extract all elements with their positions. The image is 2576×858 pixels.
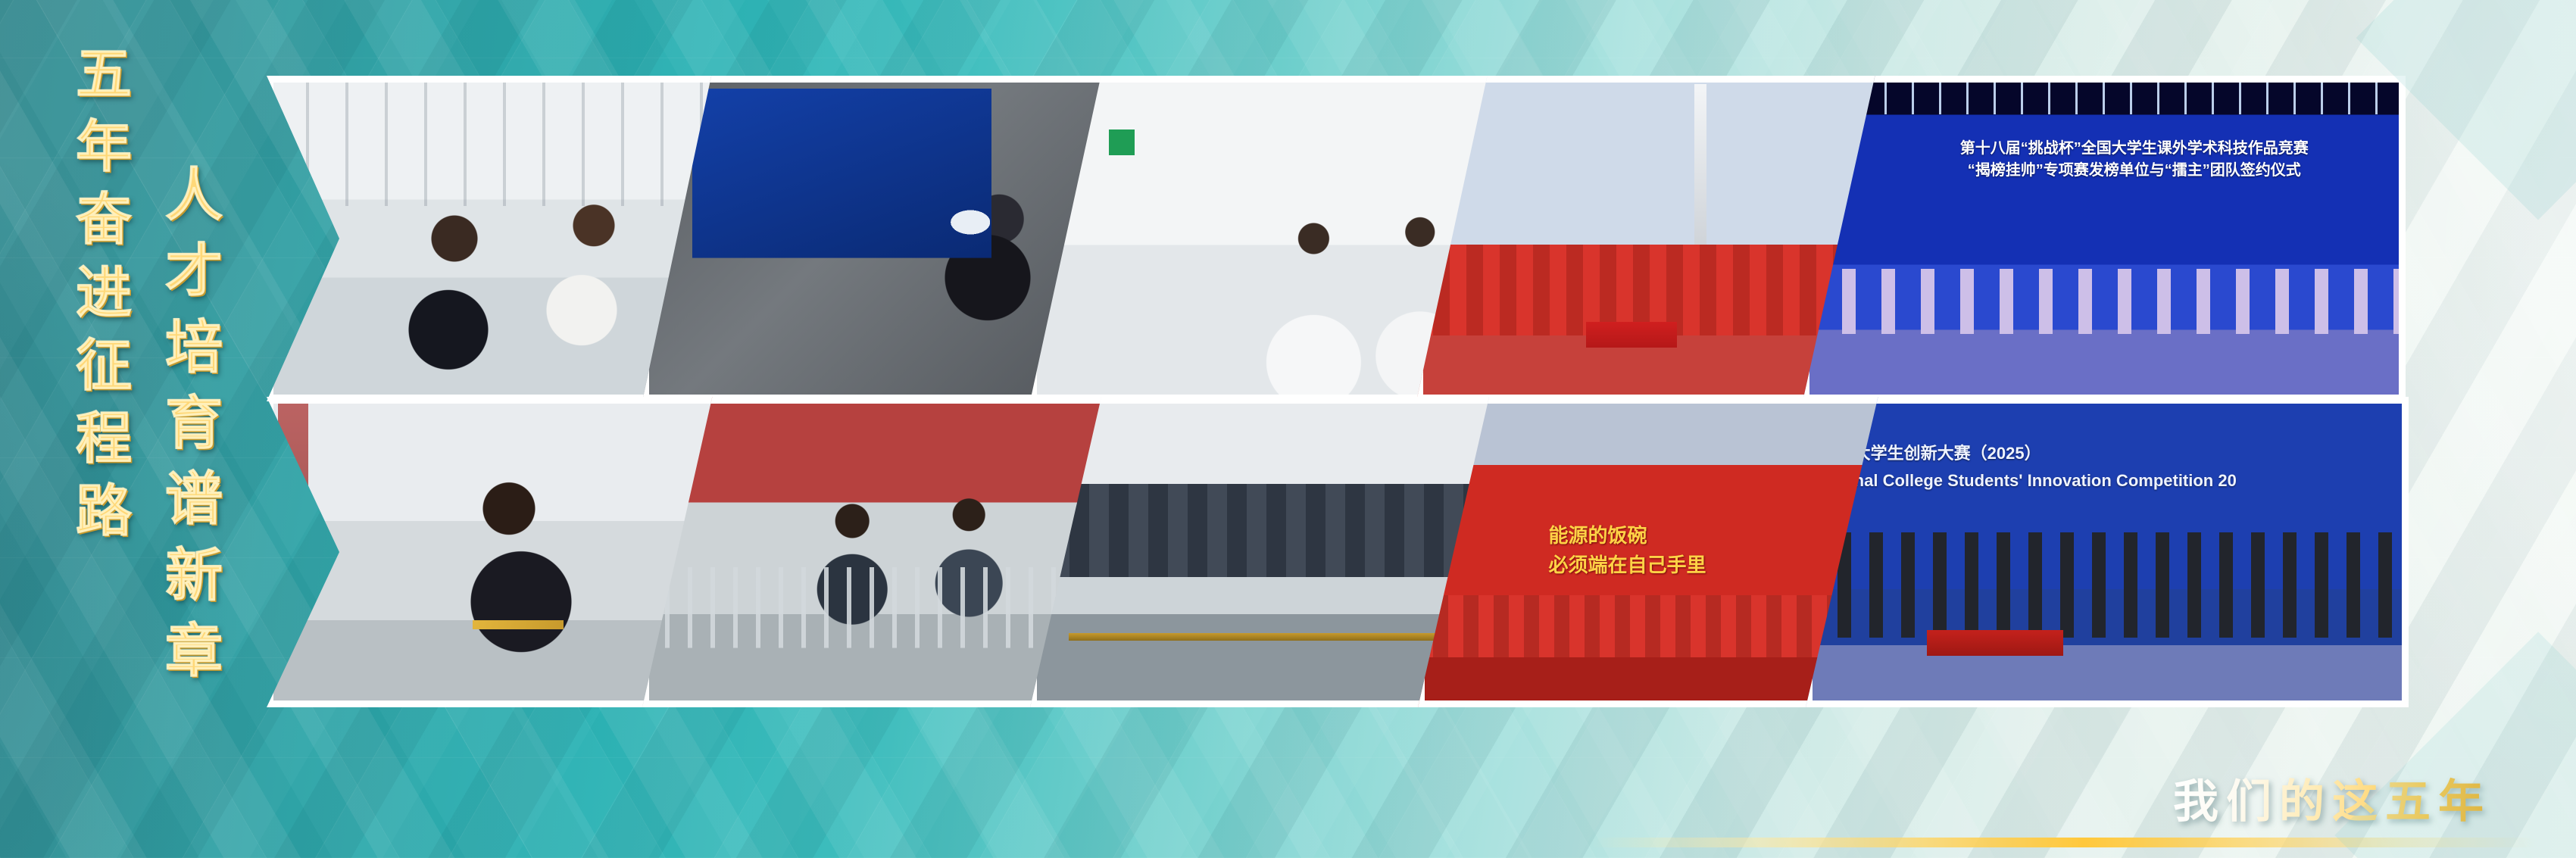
photo-tile-innovation-award-team[interactable]: 大学生创新大赛（2025） nal College Students' Inno…: [1806, 397, 2409, 707]
photo-tile-blue-stage-signing[interactable]: 第十八届“挑战杯”全国大学生课外学术科技作品竞赛 “揭榜挂帅”专项赛发榜单位与“…: [1803, 76, 2406, 401]
photo-frame: [1806, 397, 2409, 707]
photo-mosaic: 第十八届“挑战杯”全国大学生课外学术科技作品竞赛 “揭榜挂帅”专项赛发榜单位与“…: [0, 0, 2576, 858]
banner-root: 五 年 奋 进 征 程 路 人 才 培 育 谱 新 章: [0, 0, 2576, 858]
photo-frame: [1803, 76, 2406, 401]
